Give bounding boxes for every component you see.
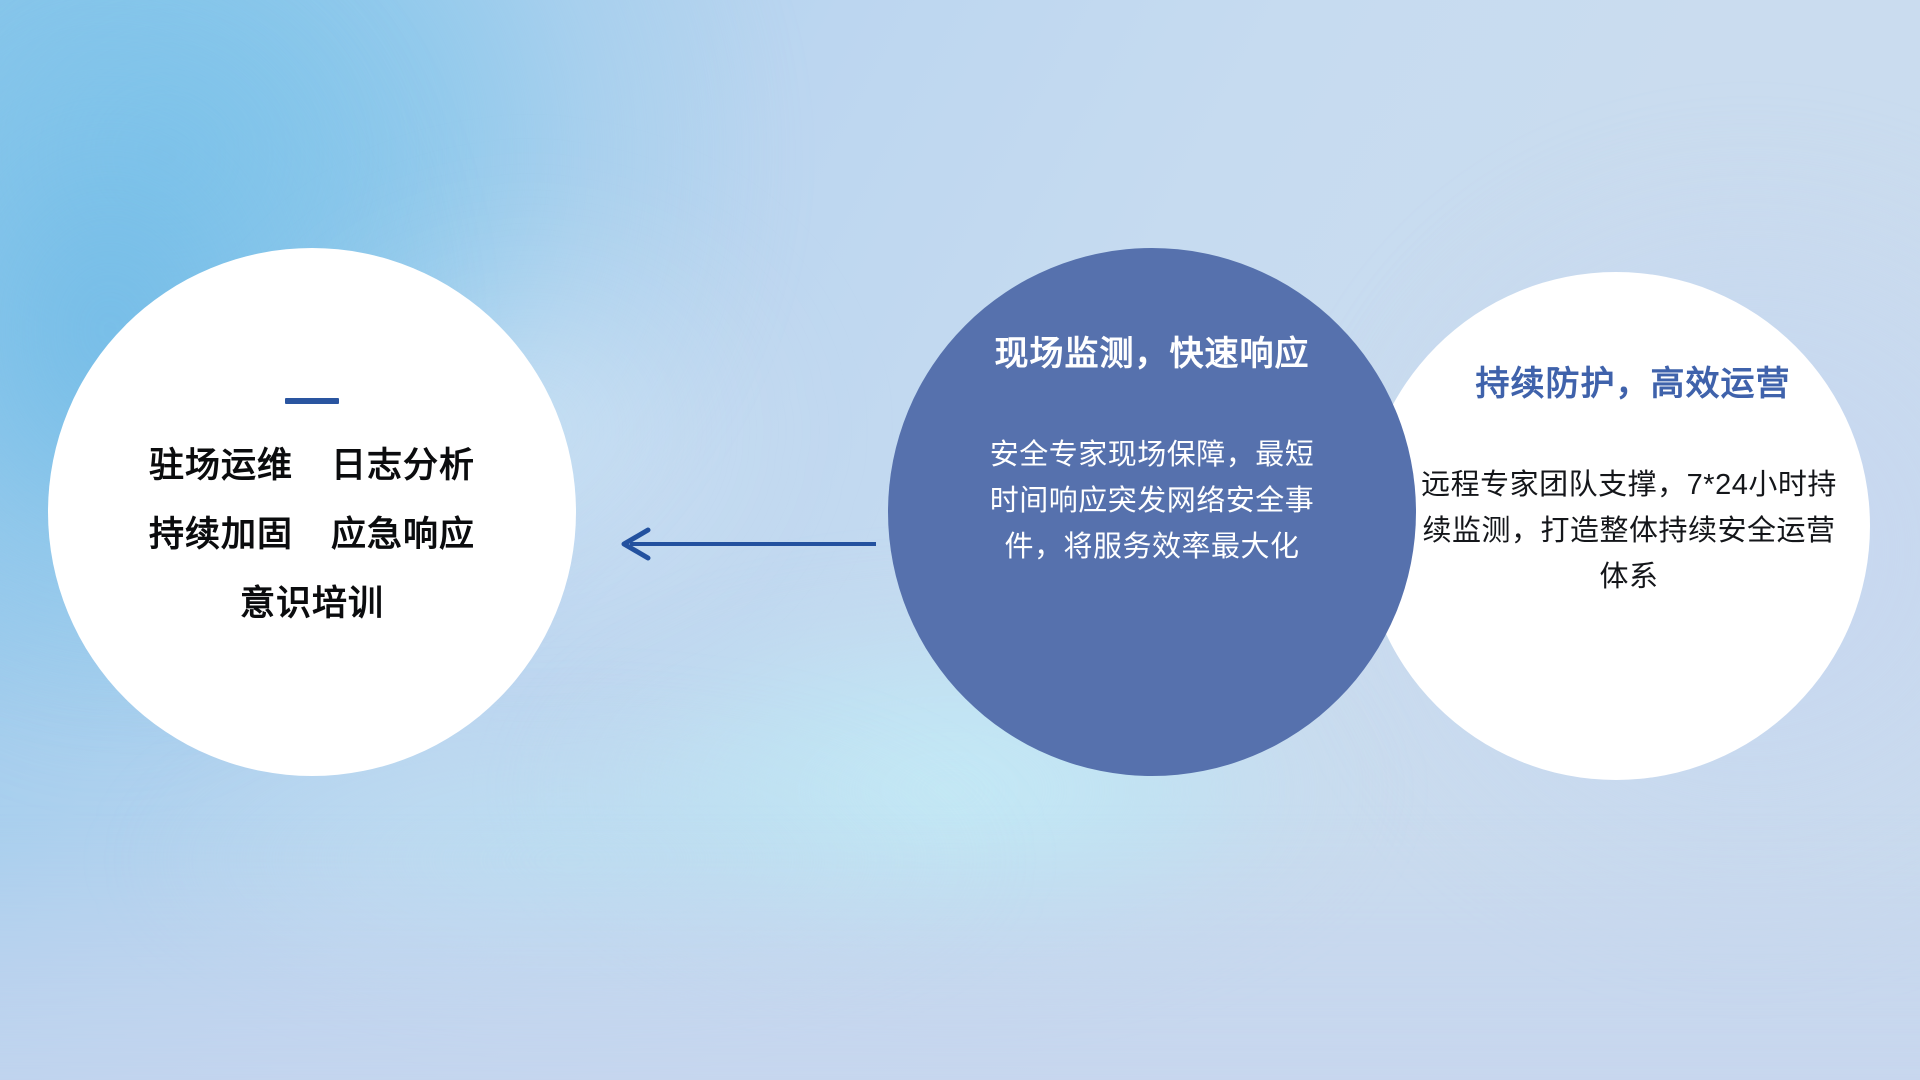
circle-title: 现场监测，快速响应 bbox=[995, 326, 1310, 375]
keyword-item: 应急响应 bbox=[331, 517, 475, 552]
keyword-item: 持续加固 bbox=[149, 517, 293, 552]
capability-circle-left: 驻场运维 日志分析 持续加固 应急响应 意识培训 bbox=[48, 248, 576, 776]
slide-canvas: 驻场运维 日志分析 持续加固 应急响应 意识培训 持续防护，高效运营 远程专家团… bbox=[0, 0, 1920, 1080]
circle-body-text: 远程专家团队支撑，7*24小时持续监测，打造整体持续安全运营体系 bbox=[1393, 463, 1839, 600]
keyword-row: 意识培训 bbox=[240, 586, 384, 621]
divider-dash bbox=[285, 398, 339, 404]
capability-circle-middle: 现场监测，快速响应 安全专家现场保障，最短时间响应突发网络安全事件，将服务效率最… bbox=[888, 248, 1416, 776]
flow-arrow-left bbox=[608, 524, 880, 564]
circle-title: 持续防护，高效运营 bbox=[1442, 356, 1791, 405]
circle-body-text: 安全专家现场保障，最短时间响应突发网络安全事件，将服务效率最大化 bbox=[987, 433, 1317, 570]
keyword-item: 日志分析 bbox=[331, 448, 475, 483]
keyword-item: 驻场运维 bbox=[149, 448, 293, 483]
keyword-row: 驻场运维 日志分析 bbox=[149, 448, 475, 483]
keyword-item: 意识培训 bbox=[240, 586, 384, 621]
background-glow-bottom bbox=[0, 830, 1920, 1080]
keyword-row: 持续加固 应急响应 bbox=[149, 517, 475, 552]
capability-circle-right: 持续防护，高效运营 远程专家团队支撑，7*24小时持续监测，打造整体持续安全运营… bbox=[1362, 272, 1870, 780]
